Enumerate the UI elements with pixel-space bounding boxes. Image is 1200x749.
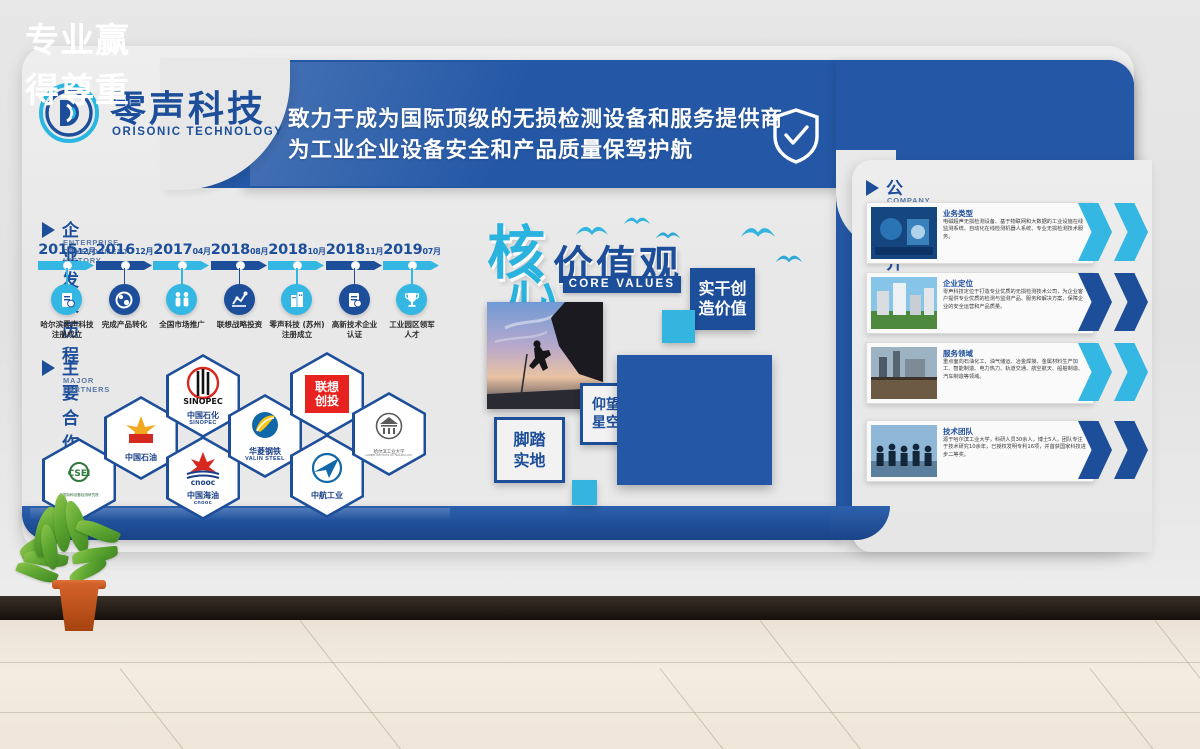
- partner-name-en: HARBIN INSTITUTE OF TECHNOLOGY: [365, 454, 412, 457]
- partner-name-cn: 中国石油: [125, 453, 157, 462]
- trophy-icon: [401, 289, 423, 311]
- bird-icon: [740, 225, 776, 245]
- timeline-node-dot: [351, 261, 360, 270]
- timeline-year: 201512月: [38, 242, 96, 258]
- timeline-node-dot: [178, 261, 187, 270]
- growth-chart-icon: [228, 289, 250, 311]
- timeline-month: 08月: [250, 247, 268, 256]
- timeline-year: 201808月: [211, 242, 269, 258]
- building-icon: [286, 289, 308, 311]
- partner-name-cn: 联想创投: [315, 380, 339, 408]
- value-box-shigan: 实干创 造价值: [690, 268, 755, 330]
- profile-card-body: 电磁超声无损检测设备、基于物联网和大数据的工业设施在线监测系统、自动化在线检测机…: [943, 219, 1087, 241]
- slogan-line-2: 为工业企业设备安全和产品质量保驾护航: [288, 135, 783, 166]
- avic-logo: [309, 452, 345, 491]
- accent-square-cyan: [662, 310, 695, 343]
- svg-text:cnooc: cnooc: [191, 478, 216, 486]
- profile-card-title: 业务类型: [943, 208, 973, 219]
- partner-name-cn: 中航工业: [311, 491, 343, 500]
- timeline-item-2018-3: 201808月联想战略投资: [211, 242, 269, 258]
- bird-icon: [775, 252, 803, 270]
- industrial-equipment-photo: [871, 207, 937, 259]
- lenovo-capital-logo: 联想创投: [305, 375, 349, 413]
- timeline-month: 10月: [307, 247, 325, 256]
- valin-logo: [248, 410, 282, 447]
- certificate-icon: [343, 289, 365, 311]
- timeline: 201512月哈尔滨零声科技 注册成立201612月完成产品转化201704月全…: [38, 242, 438, 342]
- team-silhouette-photo: [871, 425, 937, 477]
- timeline-node-dot: [408, 261, 417, 270]
- timeline-item-2017-2: 201704月全国市场推广: [153, 242, 211, 258]
- timeline-month: 12月: [77, 247, 95, 256]
- profile-card-2[interactable]: 服务领域重点面向石油化工、油气储运、冶金焊接、金属材料生产加工、智能制造、电力热…: [866, 342, 1094, 404]
- profile-card-title: 企业定位: [943, 278, 973, 289]
- timeline-item-2018-5: 201811月高新技术企业 认证: [326, 242, 384, 258]
- gear-cycle-icon: [113, 289, 135, 311]
- profile-card-body: 源于哈尔滨工业大学，科研人员30余人，博士5人。团队专注于技术研究10余年，已授…: [943, 437, 1087, 459]
- main-value-text: 专业赢 得尊重: [0, 16, 155, 116]
- value-box-yangwang-text: 仰望 星空: [592, 396, 620, 432]
- brand-name-en: ORISONIC TECHNOLOGY: [112, 126, 284, 138]
- timeline-node-dot: [121, 261, 130, 270]
- partner-hex-inner: 华菱钢铁VALIN STEEL: [231, 397, 300, 475]
- profile-card-3[interactable]: 技术团队源于哈尔滨工业大学，科研人员30余人，博士5人。团队专注于技术研究10余…: [866, 420, 1094, 482]
- timeline-year: 201612月: [96, 242, 154, 258]
- bird-icon: [623, 214, 651, 232]
- timeline-month: 04月: [192, 247, 210, 256]
- timeline-year: 201704月: [153, 242, 211, 258]
- timeline-item-2015-0: 201512月哈尔滨零声科技 注册成立: [38, 242, 96, 258]
- partner-name-cn: 华菱钢铁: [249, 447, 281, 456]
- main-value-box: [617, 355, 772, 485]
- sinopec-logo: SINOPEC: [178, 366, 228, 411]
- timeline-month: 12月: [135, 247, 153, 256]
- petrochina-logo: [121, 414, 161, 453]
- profile-card-body: 零声科技定位于打造专业优质的无损检测技术公司，为企业客户提供专业优质的检测与监测…: [943, 289, 1087, 311]
- partner-name-cn: 中国石化: [187, 411, 219, 420]
- city-skyline-photo: [871, 277, 937, 329]
- industrial-plant-photo: [871, 347, 937, 399]
- profile-card-1[interactable]: 企业定位零声科技定位于打造专业优质的无损检测技术公司，为企业客户提供专业优质的检…: [866, 272, 1094, 334]
- timeline-month: 11月: [365, 247, 383, 256]
- svg-text:CSEI: CSEI: [68, 469, 91, 479]
- profile-card-body: 重点面向石油化工、油气储运、冶金焊接、金属材料生产加工、智能制造、电力热力、轨道…: [943, 359, 1087, 381]
- value-box-jiaota: 脚踏 实地: [494, 417, 565, 483]
- partner-name-cn: 中国海油: [187, 491, 219, 500]
- timeline-year: 201810月: [268, 242, 326, 258]
- tile-floor: [0, 620, 1200, 749]
- partner-hex-inner: 中国石油: [107, 399, 176, 477]
- profile-card-0[interactable]: 业务类型电磁超声无损检测设备、基于物联网和大数据的工业设施在线监测系统、自动化在…: [866, 202, 1094, 264]
- timeline-node-dot: [63, 261, 72, 270]
- svg-text:SINOPEC: SINOPEC: [183, 397, 223, 406]
- timeline-month: 07月: [422, 247, 440, 256]
- core-values-title-en: CORE VALUES: [563, 276, 681, 293]
- timeline-item-2016-1: 201612月完成产品转化: [96, 242, 154, 258]
- timeline-icon-circle: [51, 284, 82, 315]
- baseboard: [0, 596, 1200, 620]
- timeline-caption: 工业园区领军 人才: [375, 320, 449, 340]
- partner-name-en: SINOPEC: [189, 420, 217, 426]
- cnooc-logo: cnooc: [181, 450, 225, 491]
- partner-hex-inner: 中航工业: [293, 437, 362, 515]
- timeline-icon-circle: [281, 284, 312, 315]
- accent-square-cyan-small: [572, 480, 597, 505]
- triangle-bullet-icon: [866, 180, 879, 196]
- timeline-node-dot: [236, 261, 245, 270]
- timeline-item-2018-4: 201810月零声科技 (苏州) 注册成立: [268, 242, 326, 258]
- bird-icon: [655, 228, 681, 246]
- triangle-bullet-icon: [42, 360, 55, 376]
- timeline-node-dot: [293, 261, 302, 270]
- timeline-icon-circle: [109, 284, 140, 315]
- partner-hex-inner: SINOPEC中国石化SINOPEC: [169, 357, 238, 435]
- timeline-icon-circle: [339, 284, 370, 315]
- profile-card-title: 技术团队: [943, 426, 973, 437]
- timeline-icon-circle: [166, 284, 197, 315]
- partner-name-en: cnooc: [194, 500, 212, 506]
- partner-name-en: VALIN STEEL: [245, 456, 285, 462]
- header-slogan: 致力于成为国际顶级的无损检测设备和服务提供商 为工业企业设备安全和产品质量保驾护…: [288, 104, 783, 166]
- timeline-item-2019-6: 201907月工业园区领军 人才: [383, 242, 441, 258]
- csei-logo: CSEI: [59, 462, 99, 493]
- timeline-year: 201907月: [383, 242, 441, 258]
- profile-card-title: 服务领域: [943, 348, 973, 359]
- culture-wall-scene: 零声科技 ORISONIC TECHNOLOGY 致力于成为国际顶级的无损检测设…: [0, 0, 1200, 749]
- partner-hex-inner: 联想创投: [293, 355, 362, 433]
- partner-hex-inner: 哈尔滨工业大学HARBIN INSTITUTE OF TECHNOLOGY: [355, 395, 424, 473]
- triangle-bullet-icon: [42, 222, 55, 238]
- timeline-year: 201811月: [326, 242, 384, 258]
- people-icon: [171, 289, 193, 311]
- timeline-icon-circle: [396, 284, 427, 315]
- certificate-icon: [56, 289, 78, 311]
- shield-check-icon: [772, 108, 820, 164]
- partner-hex-inner: cnooc中国海油cnooc: [169, 439, 238, 517]
- potted-plant: [14, 490, 124, 630]
- plant-pot: [56, 583, 102, 631]
- timeline-icon-circle: [224, 284, 255, 315]
- bird-icon: [575, 224, 609, 243]
- value-box-shigan-text: 实干创 造价值: [698, 279, 746, 319]
- slogan-line-1: 致力于成为国际顶级的无损检测设备和服务提供商: [288, 104, 783, 135]
- hit-logo: [371, 412, 407, 449]
- value-box-jiaota-text: 脚踏 实地: [513, 429, 545, 471]
